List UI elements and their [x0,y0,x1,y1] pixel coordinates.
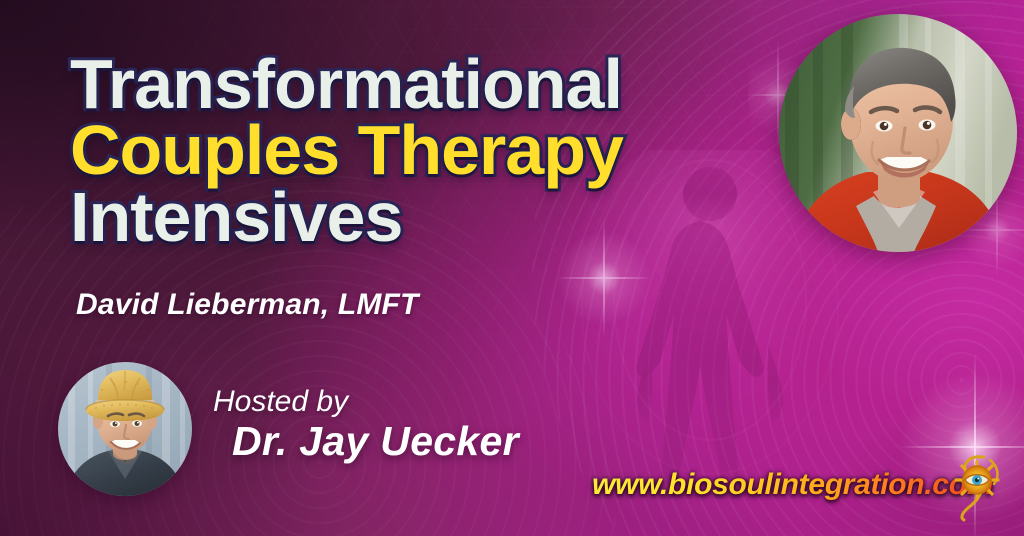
headline-line-2: Couples Therapy [70,118,790,182]
biosoul-integration-eye-logo-icon[interactable] [946,452,1008,522]
presenter-photo [779,14,1017,252]
host-photo [58,362,192,496]
host-name: Dr. Jay Uecker [232,418,519,465]
headline-line-1: Transformational [70,52,790,116]
promo-banner: Transformational Couples Therapy Intensi… [0,0,1024,536]
website-url[interactable]: www.biosoulintegration.com [592,468,993,502]
headline-line-3: Intensives [70,185,790,249]
hosted-by-label: Hosted by [213,385,348,419]
headline: Transformational Couples Therapy Intensi… [70,52,790,249]
presenter-name: David Lieberman, LMFT [76,288,419,322]
